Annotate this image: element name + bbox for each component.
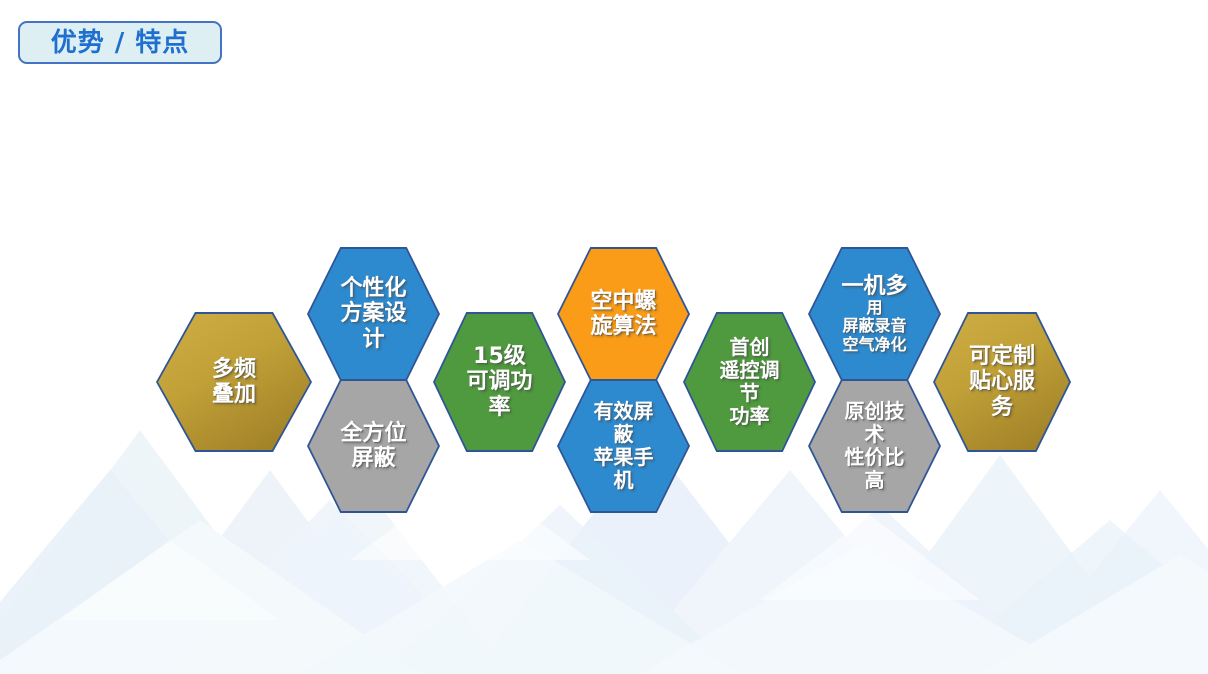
hexagon-label: 空中螺 旋算法 — [576, 289, 670, 339]
hexagon-label-line: 有效屏 — [594, 400, 654, 423]
hexagon-label-line: 全方位 — [340, 421, 406, 446]
hexagon-label-line: 空气净化 — [842, 336, 906, 354]
hexagon-label-line: 空中螺 — [590, 289, 656, 314]
hexagon-label-line: 性价比 — [845, 446, 905, 469]
hexagon-label-line: 屏蔽 — [351, 446, 395, 471]
hexagon-shi-wu-ji-ke-tiao-gong-lv[interactable]: 15级 可调功 率 — [435, 314, 564, 450]
hexagon-yi-ji-duo-yong[interactable]: 一机多 用 屏蔽录音 空气净化 — [810, 249, 939, 379]
hexagon-label-line: 多频 — [212, 357, 256, 382]
hexagon-label-line: 方案设 — [340, 301, 406, 326]
hexagon-label-line: 率 — [488, 395, 510, 420]
hexagon-you-xiao-ping-bi-ping-guo-shou-ji[interactable]: 有效屏 蔽 苹果手 机 — [559, 381, 688, 511]
hexagon-label-line: 个性化 — [340, 276, 406, 301]
hexagon-label: 个性化 方案设 计 — [326, 276, 420, 351]
hexagon-label-line: 计 — [362, 327, 384, 352]
hexagon-label: 多频 叠加 — [198, 357, 270, 407]
hexagon-label-line: 务 — [991, 395, 1013, 420]
hexagon-ke-ding-zhi-tie-xin-fu-wu[interactable]: 可定制 贴心服 务 — [935, 314, 1069, 450]
hexagon-label: 全方位 屏蔽 — [326, 421, 420, 471]
hexagon-label-line: 15级 — [473, 344, 526, 369]
hexagon-yuan-chuang-ji-shu-xing-jia-bi-gao[interactable]: 原创技 术 性价比 高 — [810, 381, 939, 511]
hexagon-label-line: 高 — [865, 469, 885, 492]
hexagon-label-line: 旋算法 — [590, 314, 656, 339]
hexagon-label-line: 节 — [740, 382, 760, 405]
hexagon-label-line: 首创 — [730, 336, 770, 359]
hexagon-label-line: 用 — [866, 299, 882, 317]
hexagon-label: 一机多 用 屏蔽录音 空气净化 — [835, 274, 913, 354]
hexagon-label: 15级 可调功 率 — [452, 344, 546, 419]
hexagon-label: 原创技 术 性价比 高 — [831, 400, 919, 491]
hexagon-label-line: 可定制 — [969, 344, 1035, 369]
slide-canvas: 优势 / 特点 多频 叠加 个性化 方案设 计 全方位 屏蔽 — [0, 0, 1208, 674]
hexagon-label-line: 遥控调 — [720, 359, 780, 382]
hexagon-label-line: 屏蔽录音 — [842, 317, 906, 335]
hexagon-label-line: 蔽 — [614, 423, 634, 446]
hexagon-label-line: 叠加 — [212, 382, 256, 407]
hexagon-duo-pin-die-jia[interactable]: 多频 叠加 — [158, 314, 310, 450]
hexagon-shou-chuang-yao-kong-tiao-jie-gong-lv[interactable]: 首创 遥控调 节 功率 — [685, 314, 814, 450]
hexagon-ge-xing-hua-fang-an-she-ji[interactable]: 个性化 方案设 计 — [309, 249, 438, 379]
hexagon-label-line: 可调功 — [466, 369, 532, 394]
hexagon-label-line: 功率 — [730, 405, 770, 428]
hexagon-label-line: 原创技 — [845, 400, 905, 423]
hexagon-label: 首创 遥控调 节 功率 — [706, 336, 794, 427]
hexagon-quan-fang-wei-ping-bi[interactable]: 全方位 屏蔽 — [309, 381, 438, 511]
hexagon-label-line: 机 — [614, 469, 634, 492]
hexagon-cluster: 多频 叠加 个性化 方案设 计 全方位 屏蔽 15级 可调功 — [0, 0, 1208, 674]
hexagon-label-line: 苹果手 — [594, 446, 654, 469]
hexagon-kong-zhong-luo-xuan-suan-fa[interactable]: 空中螺 旋算法 — [559, 249, 688, 379]
hexagon-label: 可定制 贴心服 务 — [955, 344, 1049, 419]
hexagon-label-line: 贴心服 — [969, 369, 1035, 394]
hexagon-label-line: 术 — [865, 423, 885, 446]
hexagon-label-line: 一机多 — [841, 274, 907, 299]
hexagon-label: 有效屏 蔽 苹果手 机 — [580, 400, 668, 491]
